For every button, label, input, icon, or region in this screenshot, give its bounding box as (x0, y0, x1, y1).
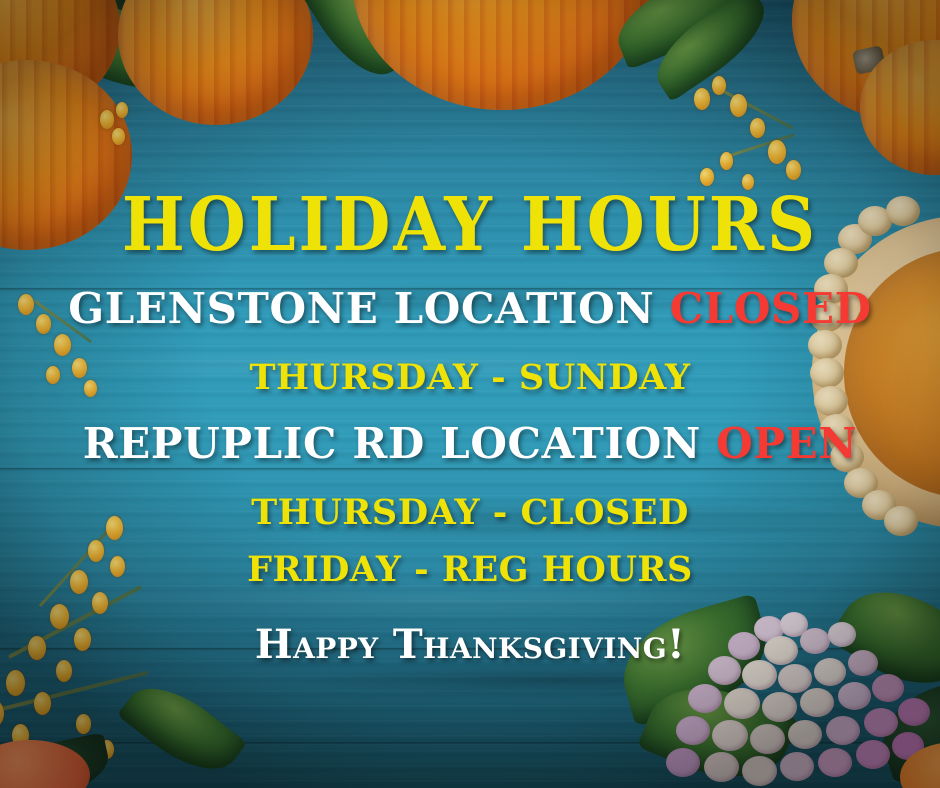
republic-thursday-line: THURSDAY - CLOSED (251, 495, 689, 530)
page-title: HOLIDAY HOURS (122, 188, 818, 262)
glenstone-status-badge: CLOSED (670, 284, 872, 333)
glenstone-location-label: GLENSTONE LOCATION (68, 284, 669, 333)
republic-location-line: REPUPLIC RD LOCATION OPEN (83, 423, 858, 465)
poster-text-block: HOLIDAY HOURS GLENSTONE LOCATION CLOSED … (0, 0, 940, 788)
glenstone-days-line: THURSDAY - SUNDAY (249, 360, 690, 395)
republic-location-label: REPUPLIC RD LOCATION (83, 419, 716, 468)
glenstone-location-line: GLENSTONE LOCATION CLOSED (68, 288, 871, 330)
holiday-hours-poster: HOLIDAY HOURS GLENSTONE LOCATION CLOSED … (0, 0, 940, 788)
republic-status-badge: OPEN (716, 419, 857, 468)
closing-greeting: Happy Thanksgiving! (255, 625, 685, 665)
republic-friday-line: FRIDAY - REG HOURS (247, 552, 693, 587)
